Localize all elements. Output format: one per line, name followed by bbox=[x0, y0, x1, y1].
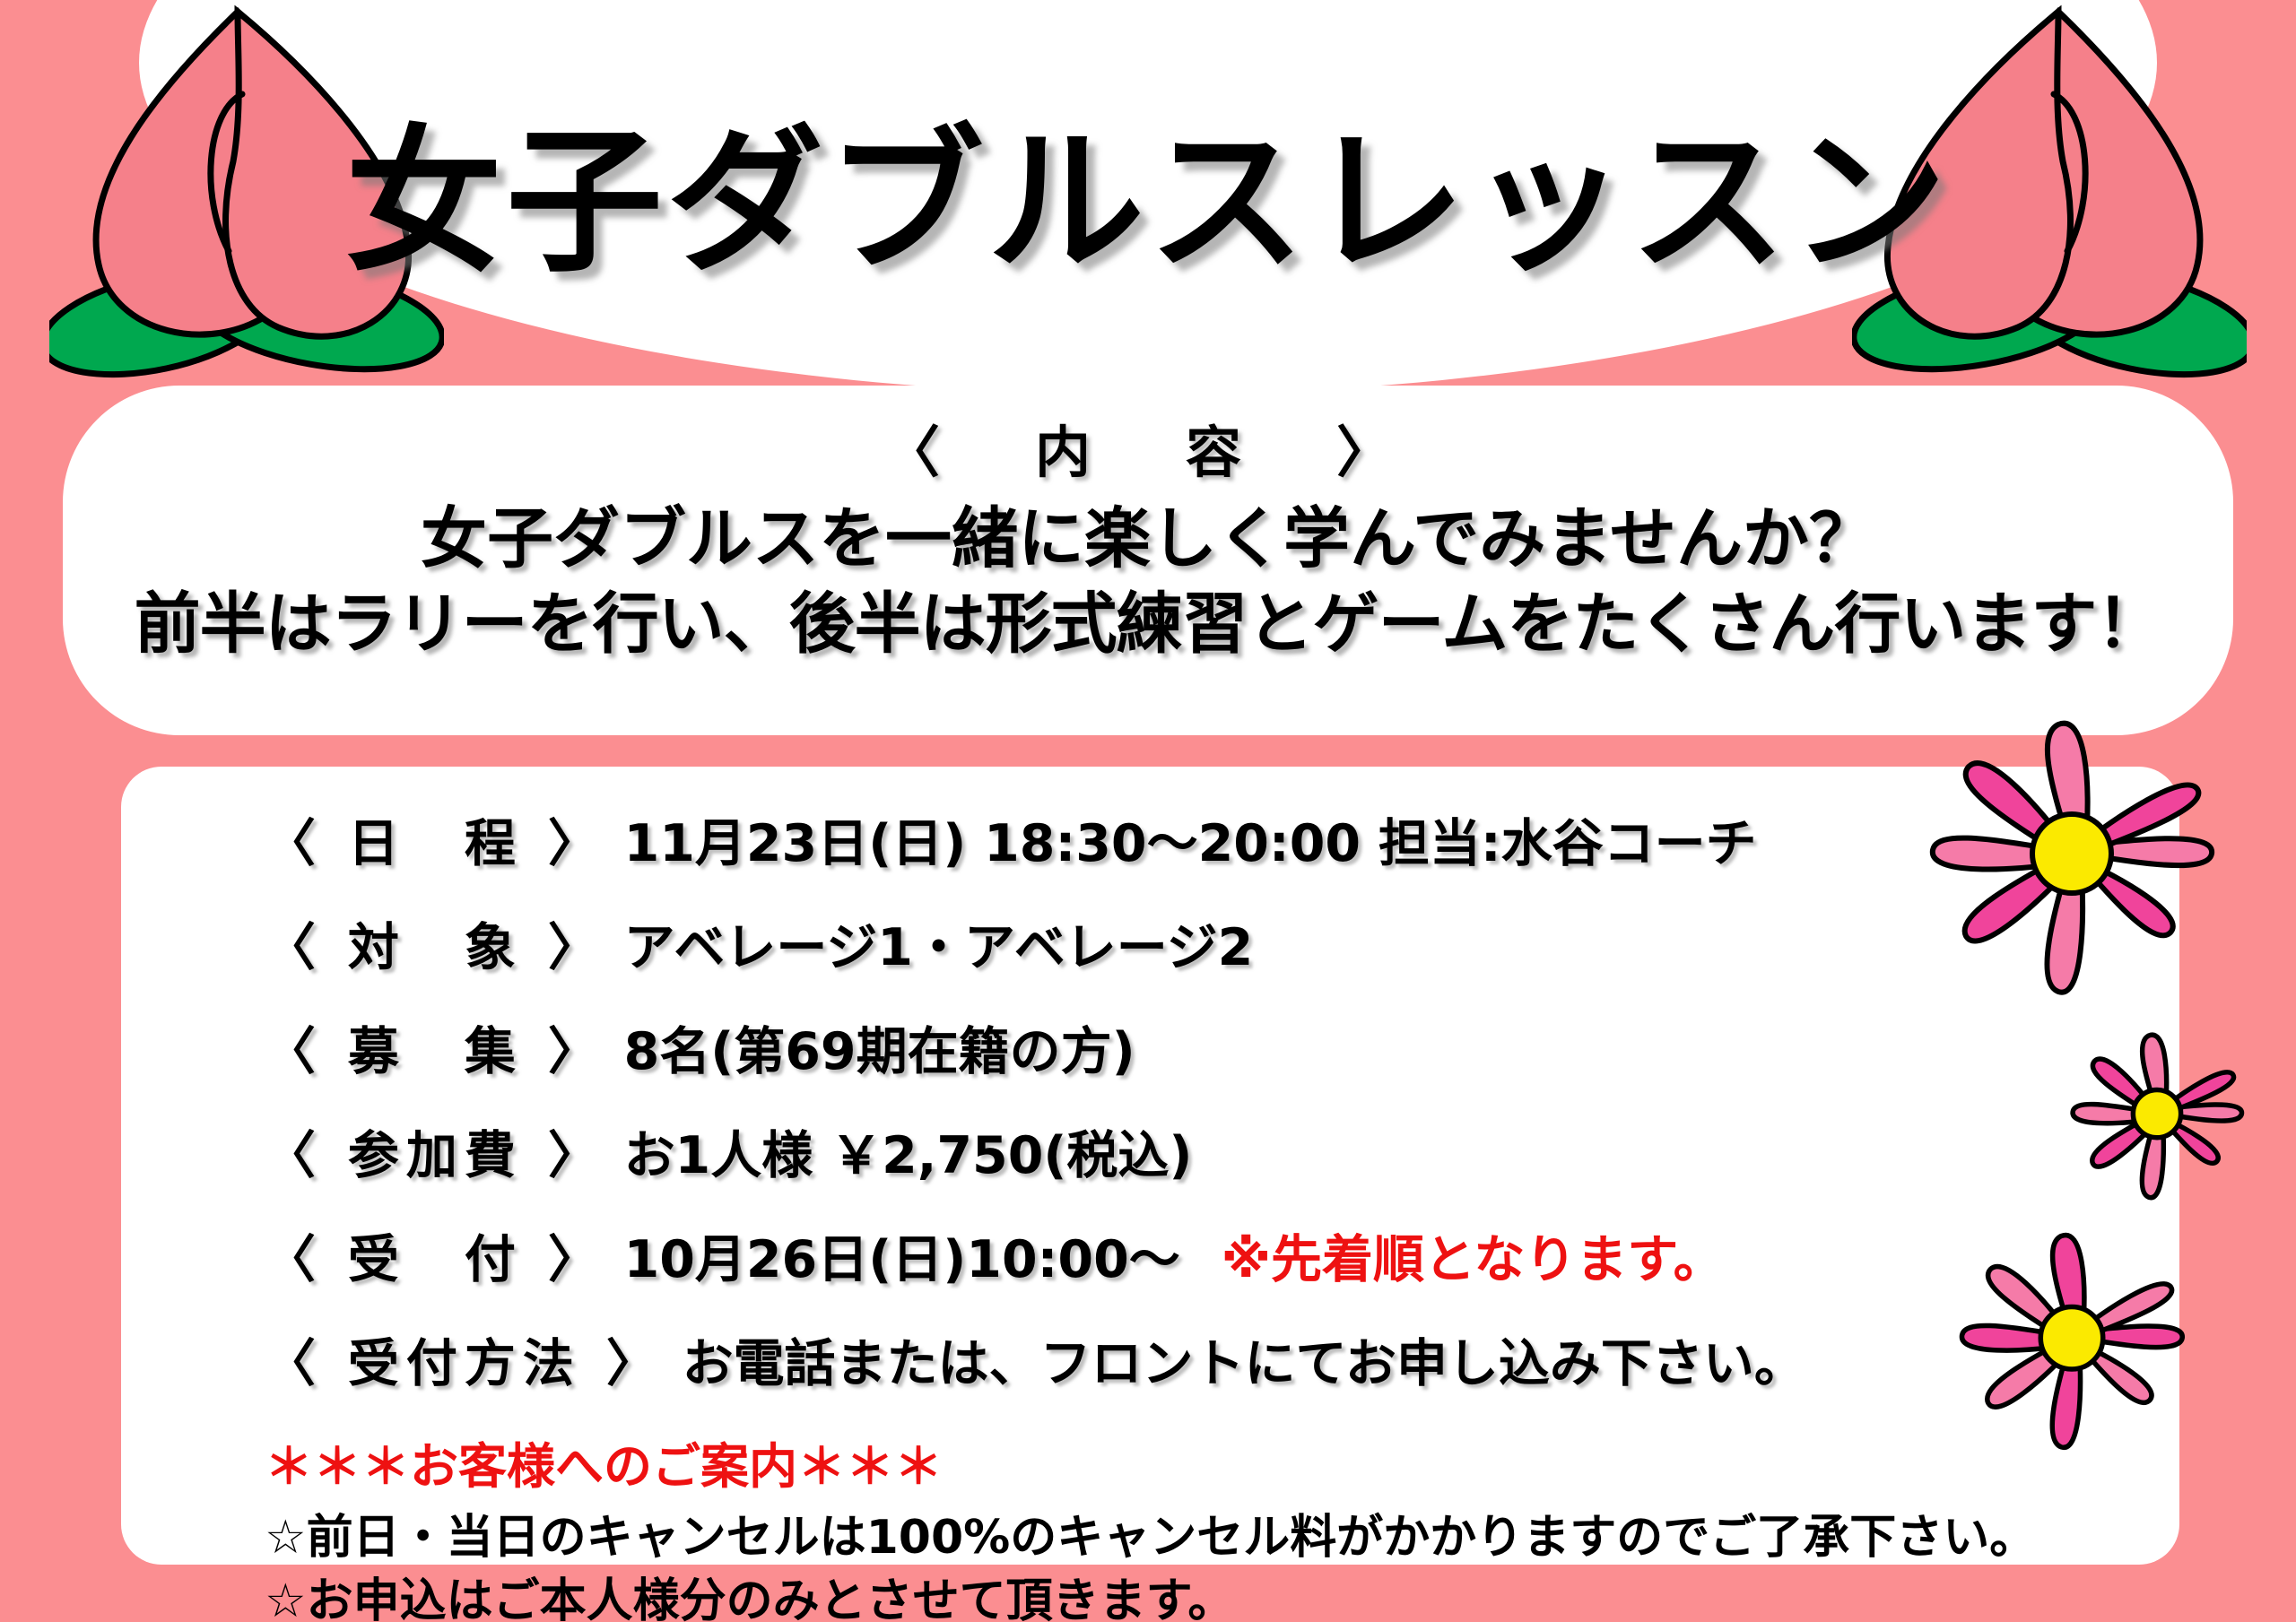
poster-root: 女子ダブルスレッスン 〈 内 容 〉 女子ダブルスを一緒に楽しく学んでみませんか… bbox=[0, 0, 2296, 1622]
detail-row-fee: 〈 参加費 〉 お1人様 ￥2,750(税込) bbox=[265, 1115, 2179, 1188]
detail-value: アベレージ1・アベレージ2 bbox=[624, 918, 1254, 977]
notice-line-1: ☆前日・当日のキャンセルは100%のキャンセル料がかかりますのでご了承下さい。 bbox=[265, 1506, 2179, 1570]
detail-label: 〈 対 象 〉 bbox=[265, 918, 606, 977]
detail-row-target: 〈 対 象 〉 アベレージ1・アベレージ2 bbox=[265, 906, 2179, 980]
detail-value: お電話または、フロントにてお申し込み下さい。 bbox=[683, 1334, 1805, 1393]
content-line-1: 女子ダブルスを一緒に楽しく学んでみませんか？ bbox=[421, 497, 1875, 582]
content-heading: 〈 内 容 〉 bbox=[884, 407, 1412, 488]
details-panel: 〈 日 程 〉 11月23日(日) 18:30〜20:00 担当:水谷コーチ 〈… bbox=[121, 767, 2179, 1565]
detail-row-reception: 〈 受 付 〉 10月26日(日)10:00〜 ※先着順となります。 bbox=[265, 1219, 2179, 1292]
detail-label: 〈 受付方法 〉 bbox=[265, 1334, 665, 1393]
detail-row-schedule: 〈 日 程 〉 11月23日(日) 18:30〜20:00 担当:水谷コーチ bbox=[265, 802, 2179, 876]
notice-heading: ＊＊＊お客様へのご案内＊＊＊ bbox=[265, 1427, 2179, 1497]
detail-label: 〈 日 程 〉 bbox=[265, 814, 606, 873]
detail-label: 〈 募 集 〉 bbox=[265, 1022, 606, 1081]
detail-value: 8名(第69期在籍の方) bbox=[624, 1022, 1135, 1081]
first-come-note: ※先着順となります。 bbox=[1222, 1230, 1725, 1289]
detail-value: お1人様 ￥2,750(税込) bbox=[624, 1126, 1193, 1185]
content-panel: 〈 内 容 〉 女子ダブルスを一緒に楽しく学んでみませんか？ 前半はラリーを行い… bbox=[63, 386, 2233, 735]
content-line-2: 前半はラリーを行い、後半は形式練習とゲームをたくさん行います！ bbox=[135, 582, 2162, 667]
detail-label: 〈 受 付 〉 bbox=[265, 1230, 606, 1289]
detail-label: 〈 参加費 〉 bbox=[265, 1126, 606, 1185]
detail-value: 11月23日(日) 18:30〜20:00 担当:水谷コーチ bbox=[624, 814, 1757, 873]
detail-row-capacity: 〈 募 集 〉 8名(第69期在籍の方) bbox=[265, 1010, 2179, 1084]
detail-row-how-to-apply: 〈 受付方法 〉 お電話または、フロントにてお申し込み下さい。 bbox=[265, 1323, 2179, 1396]
page-title: 女子ダブルスレッスン bbox=[139, 85, 2157, 291]
notice-line-2: ☆お申込はご本人様分のみとさせて頂きます。 bbox=[265, 1570, 2179, 1622]
detail-value: 10月26日(日)10:00〜 bbox=[624, 1230, 1180, 1289]
